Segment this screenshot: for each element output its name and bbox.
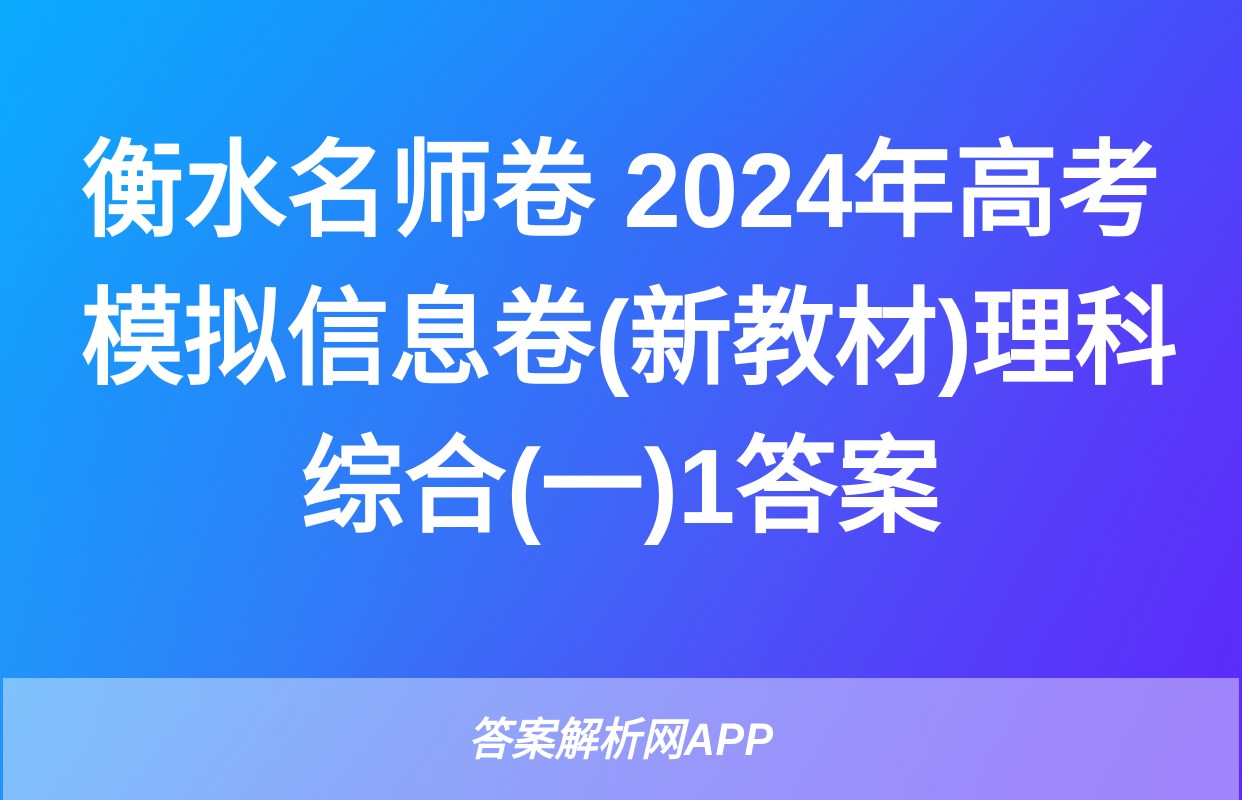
brand-app-label: 答案解析网APP [468, 717, 773, 762]
poster-title: 衡水名师卷 2024年高考 模拟信息卷(新教材)理科 综合(一)1答案 [81, 117, 1161, 561]
title-line-3: 综合(一)1答案 [97, 413, 1145, 561]
title-line-1: 衡水名师卷 2024年高考 [81, 117, 1129, 265]
poster-canvas: 衡水名师卷 2024年高考 模拟信息卷(新教材)理科 综合(一)1答案 答案解析… [0, 0, 1242, 800]
footer-brand-band: 答案解析网APP [3, 678, 1239, 800]
title-line-2: 模拟信息卷(新教材)理科 [81, 265, 1129, 413]
title-area: 衡水名师卷 2024年高考 模拟信息卷(新教材)理科 综合(一)1答案 [0, 0, 1242, 678]
